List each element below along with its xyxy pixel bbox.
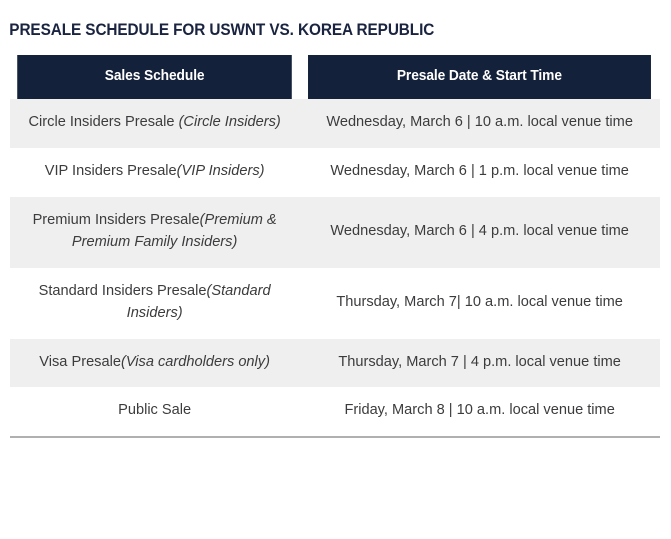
cell-presale-date-time: Thursday, March 7| 10 a.m. local venue t… — [299, 268, 660, 339]
cell-sales-schedule: Public Sale — [10, 387, 299, 436]
sales-schedule-audience: (VIP Insiders) — [177, 163, 265, 179]
table-row: Premium Insiders Presale(Premium & Premi… — [10, 197, 660, 268]
presale-schedule-page: PRESALE SCHEDULE FOR USWNT VS. KOREA REP… — [0, 11, 671, 539]
cell-presale-date-time: Wednesday, March 6 | 4 p.m. local venue … — [299, 197, 660, 268]
sales-schedule-audience: (Visa cardholders only) — [121, 354, 270, 370]
table-row: Visa Presale(Visa cardholders only)Thurs… — [10, 339, 660, 388]
page-title: PRESALE SCHEDULE FOR USWNT VS. KOREA REP… — [0, 11, 624, 41]
table-row: VIP Insiders Presale(VIP Insiders)Wednes… — [10, 148, 660, 197]
cell-sales-schedule: VIP Insiders Presale(VIP Insiders) — [10, 148, 299, 197]
cell-sales-schedule: Circle Insiders Presale (Circle Insiders… — [10, 99, 299, 148]
cell-sales-schedule: Standard Insiders Presale(Standard Insid… — [10, 268, 299, 339]
cell-sales-schedule: Premium Insiders Presale(Premium & Premi… — [10, 197, 299, 268]
table-row: Public SaleFriday, March 8 | 10 a.m. loc… — [10, 387, 660, 436]
table-body: Circle Insiders Presale (Circle Insiders… — [10, 99, 660, 436]
column-header-presale-date-time: Presale Date & Start Time — [308, 55, 651, 99]
table-row: Circle Insiders Presale (Circle Insiders… — [10, 99, 660, 148]
cell-presale-date-time: Wednesday, March 6 | 1 p.m. local venue … — [299, 148, 660, 197]
sales-schedule-name: Premium Insiders Presale — [33, 212, 200, 228]
cell-presale-date-time: Friday, March 8 | 10 a.m. local venue ti… — [299, 387, 660, 436]
cell-presale-date-time: Thursday, March 7 | 4 p.m. local venue t… — [299, 339, 660, 388]
schedule-table-container: Sales Schedule Presale Date & Start Time… — [10, 55, 660, 439]
table-header-row: Sales Schedule Presale Date & Start Time — [10, 55, 660, 99]
table-header: Sales Schedule Presale Date & Start Time — [10, 55, 660, 99]
sales-schedule-name: Circle Insiders Presale — [29, 114, 179, 130]
column-header-sales-schedule: Sales Schedule — [17, 55, 292, 99]
sales-schedule-audience: (Circle Insiders) — [179, 114, 281, 130]
sales-schedule-name: VIP Insiders Presale — [45, 163, 177, 179]
cell-presale-date-time: Wednesday, March 6 | 10 a.m. local venue… — [299, 99, 660, 148]
sales-schedule-name: Visa Presale — [39, 354, 121, 370]
cell-sales-schedule: Visa Presale(Visa cardholders only) — [10, 339, 299, 388]
presale-schedule-table: Sales Schedule Presale Date & Start Time… — [10, 55, 660, 437]
sales-schedule-name: Public Sale — [118, 402, 191, 418]
sales-schedule-name: Standard Insiders Presale — [39, 283, 207, 299]
table-row: Standard Insiders Presale(Standard Insid… — [10, 268, 660, 339]
